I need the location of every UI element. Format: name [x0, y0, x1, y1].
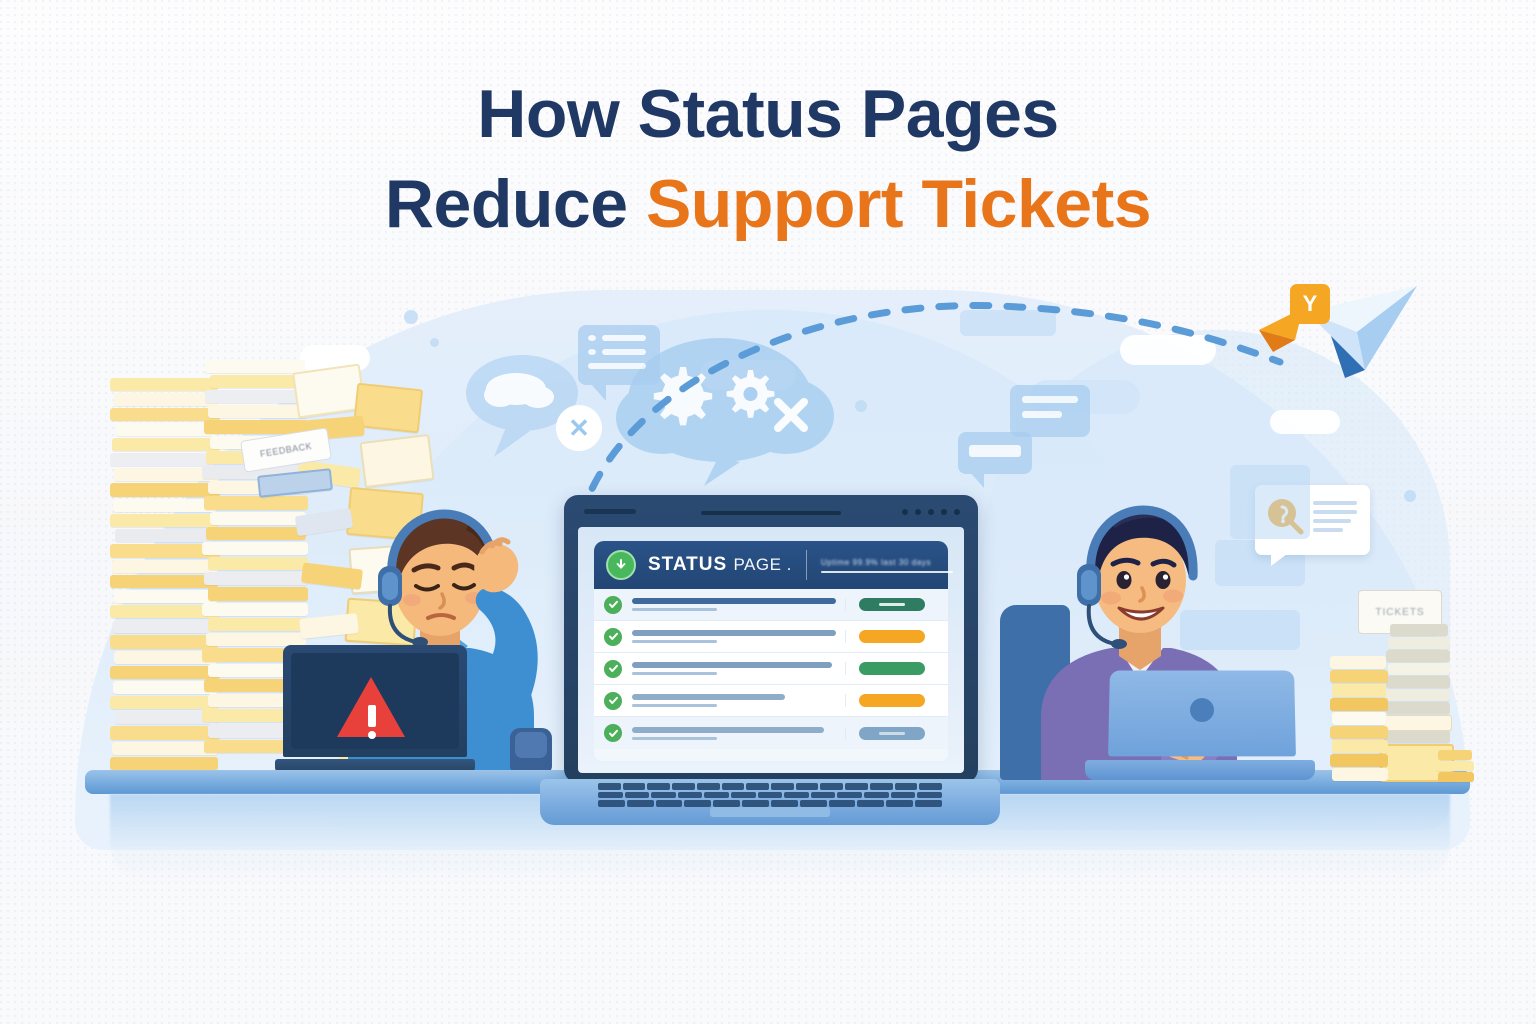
- status-row[interactable]: [594, 589, 948, 621]
- status-row-text: [632, 630, 845, 643]
- paper-sheet: [1382, 715, 1452, 731]
- paper-sheet: [114, 590, 218, 603]
- paper-sheet: [204, 572, 308, 585]
- warning-exclamation: [368, 705, 376, 727]
- paper-sheet: [110, 575, 218, 588]
- alert-laptop: [275, 645, 475, 775]
- status-page-brand: STATUS PAGE .: [648, 554, 792, 576]
- paper-sheet: [204, 496, 308, 510]
- envelope-icon: [359, 434, 434, 488]
- paper-sheet: [208, 587, 308, 601]
- paper-sheet: [110, 453, 216, 466]
- paper-sheet: [1384, 731, 1450, 743]
- check-circle-icon: [604, 692, 622, 710]
- paper-sheet: [1386, 676, 1450, 688]
- title-line-1: How Status Pages: [0, 80, 1536, 148]
- paper-sheet: [114, 393, 218, 406]
- decor-dot: [855, 400, 867, 412]
- paper-plane-icon: Y: [1245, 278, 1425, 398]
- paper-sheet: [112, 560, 218, 573]
- paper-sheet: [1388, 663, 1450, 675]
- laptop-keyboard[interactable]: [598, 783, 942, 807]
- status-row-text: [632, 598, 845, 611]
- agent-laptop-lid: [1108, 671, 1296, 757]
- plane-badge-icon: Y: [1290, 284, 1330, 324]
- status-pill-cell: [845, 630, 938, 643]
- paper-sheet: [110, 378, 218, 391]
- title-line-2: Reduce Support Tickets: [0, 170, 1536, 238]
- status-row-text: [632, 727, 845, 740]
- paper-sheet: [110, 666, 220, 679]
- status-page-header: STATUS PAGE . Uptime 99.9% last 30 days: [594, 541, 948, 589]
- paper-sheet: [202, 542, 308, 555]
- paper-sheet: [202, 603, 308, 616]
- paper-sheet: [1330, 670, 1388, 683]
- agent-laptop-base: [1085, 760, 1315, 780]
- paper-sheet: [1386, 702, 1450, 714]
- laptop-logo: [1190, 698, 1214, 722]
- agent-laptop: [1085, 670, 1315, 780]
- plane-badge-glyph: Y: [1303, 291, 1318, 317]
- paper-sheet: [205, 360, 305, 373]
- title-line-2-plain: Reduce: [385, 166, 646, 242]
- check-circle-icon: [604, 628, 622, 646]
- status-row[interactable]: [594, 621, 948, 653]
- paper-sheet: [113, 681, 218, 694]
- paper-sheet: [1330, 726, 1388, 739]
- paper-sheet: [1390, 624, 1448, 636]
- paper-sheet: [110, 408, 220, 421]
- paper-sheet: [1332, 712, 1386, 725]
- status-row[interactable]: [594, 685, 948, 717]
- bezel-accent: [584, 509, 636, 514]
- status-row[interactable]: [594, 717, 948, 749]
- paper-sheet: [208, 405, 308, 418]
- laptop-screen: STATUS PAGE . Uptime 99.9% last 30 days: [578, 527, 964, 773]
- laptop-trackpad[interactable]: [710, 807, 830, 817]
- paper-sheet: [110, 726, 220, 740]
- illustration-canvas: How Status Pages Reduce Support Tickets: [0, 0, 1536, 1024]
- status-pill-cell: [845, 662, 938, 675]
- status-page-meta: Uptime 99.9% last 30 days: [821, 558, 936, 573]
- paper-sheet: [208, 557, 308, 570]
- status-service-list: [594, 589, 948, 761]
- status-pill-cell: [845, 598, 938, 611]
- paper-sheet: [112, 742, 218, 755]
- paper-sheet: [110, 757, 218, 770]
- faq-text-lines: [1313, 501, 1357, 532]
- download-arrow-circle-icon: [606, 550, 636, 580]
- paper-sheet: [1330, 698, 1388, 711]
- paper-sheet: [116, 423, 218, 436]
- status-badge: [859, 662, 925, 675]
- status-page-laptop: STATUS PAGE . Uptime 99.9% last 30 days: [540, 495, 1000, 825]
- feedback-label-text: FEEDBACK: [259, 441, 312, 459]
- brand-strong: STATUS: [648, 554, 727, 575]
- status-badge: [859, 694, 925, 707]
- meta-rule: [821, 571, 953, 573]
- ticket-stack-group: TICKETS: [1330, 590, 1480, 785]
- paper-sheet: [1386, 650, 1450, 662]
- paper-sheet: [1436, 761, 1474, 771]
- paper-sheet: [110, 635, 218, 649]
- paper-sheet: [1330, 754, 1388, 767]
- check-circle-icon: [604, 596, 622, 614]
- paper-sheet: [1388, 637, 1450, 649]
- header-divider: [806, 550, 807, 580]
- speaker-grille: [701, 511, 841, 515]
- paper-sheet: [1332, 740, 1388, 753]
- paper-sheet: [1438, 750, 1472, 760]
- paper-sheet: [115, 529, 215, 542]
- paper-sheet: [110, 696, 218, 709]
- paper-sheet: [1332, 768, 1388, 781]
- ticket-label-text: TICKETS: [1375, 607, 1424, 618]
- brand-light: PAGE .: [733, 555, 791, 574]
- paper-sheet: [1384, 689, 1450, 701]
- check-circle-icon: [604, 660, 622, 678]
- decor-dot: [404, 310, 418, 324]
- status-row[interactable]: [594, 653, 948, 685]
- status-badge: [859, 727, 925, 740]
- warning-dot: [368, 731, 376, 739]
- title-line-2-accent: Support Tickets: [646, 166, 1151, 242]
- status-pill-cell: [845, 694, 938, 707]
- paper-sheet: [210, 512, 306, 525]
- laptop-lid: STATUS PAGE . Uptime 99.9% last 30 days: [564, 495, 978, 783]
- paper-sheet: [1332, 684, 1386, 697]
- paper-sheet: [113, 499, 217, 512]
- laptop-base: [540, 779, 1000, 825]
- paper-sheet: [205, 390, 309, 403]
- paper-sheet: [110, 514, 218, 527]
- paper-sheet: [208, 618, 308, 631]
- status-badge: [859, 598, 925, 611]
- status-pill-cell: [845, 727, 938, 740]
- paper-sheet: [1330, 656, 1386, 669]
- page-title: How Status Pages Reduce Support Tickets: [0, 80, 1536, 238]
- decor-dot: [1404, 490, 1416, 502]
- status-row-text: [632, 694, 845, 707]
- paper-sheet: [110, 483, 220, 497]
- paper-sheet: [1438, 772, 1474, 782]
- paper-sheet: [206, 527, 306, 540]
- uptime-text: Uptime 99.9% last 30 days: [821, 558, 936, 567]
- paper-sheet: [112, 438, 220, 451]
- illustration-scene: ✕: [0, 250, 1536, 950]
- status-row-text: [632, 662, 845, 675]
- decor-dot: [430, 338, 439, 347]
- check-circle-icon: [604, 724, 622, 742]
- status-badge: [859, 630, 925, 643]
- bezel-dots: [902, 509, 960, 515]
- paper-sheet: [113, 620, 217, 633]
- faq-card-shadow: [1230, 465, 1310, 539]
